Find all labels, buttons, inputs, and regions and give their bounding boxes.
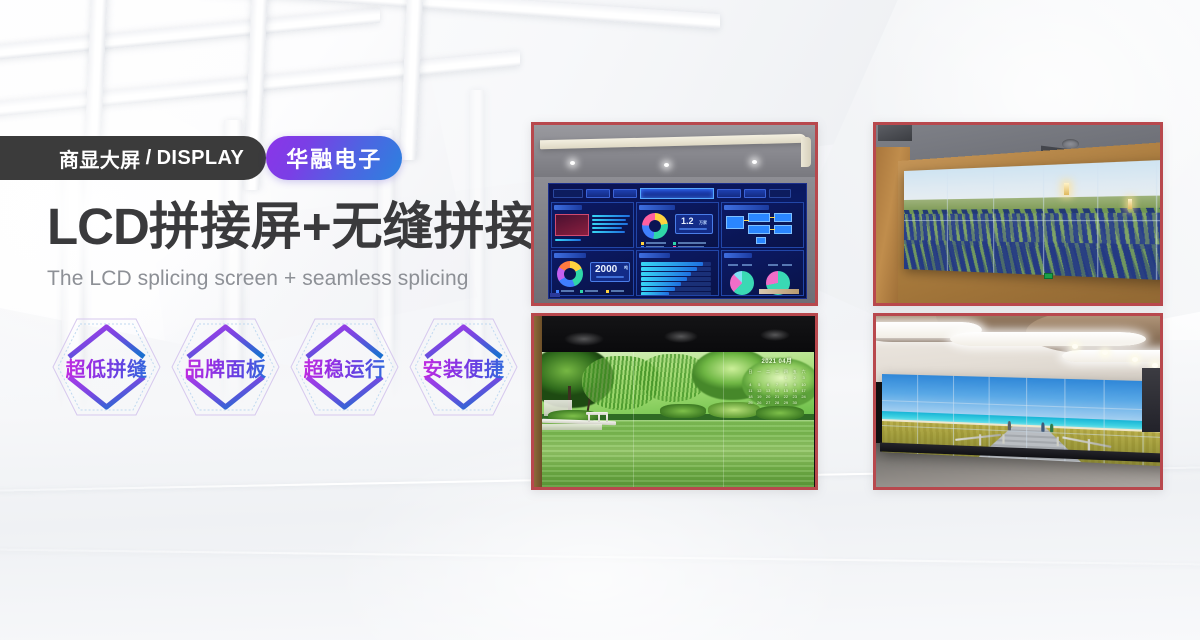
calendar-title: 2021 04月 [746,358,808,367]
photo-garden-lake-video-wall: 2021 04月 日 一 二 三 四 五 六 12345678910111213… [531,313,818,490]
video-wall-screen: 2021 04月 日 一 二 三 四 五 六 12345678910111213… [542,352,814,487]
ceiling-beam [0,51,520,120]
photo-solar-farm-video-wall [873,122,1163,306]
calendar-day: 27 [764,400,773,406]
dashboard-card: 1.2 万家 [636,202,719,248]
ceiling-beam [200,0,720,29]
category-pill: 商显大屏 / DISPLAY [0,136,266,180]
brand-badge: 商显大屏 / DISPLAY 华融电子 [47,136,402,180]
page-title-prefix: LCD [47,198,149,255]
feature-badge: 品牌面板 [166,313,285,421]
category-label-en: DISPLAY [157,147,245,170]
page-title: LCD拼接屏+无缝拼接 [47,200,547,254]
calendar-overlay: 2021 04月 日 一 二 三 四 五 六 12345678910111213… [746,358,808,422]
dashboard-card [636,250,719,296]
photo-beach-boardwalk-video-wall [873,313,1163,490]
calendar-day: 25 [746,400,755,406]
dashboard-card: 2000 吨 [551,250,634,296]
floor-line [0,548,1200,567]
calendar-day: 30 [790,400,799,406]
dashboard-screen: 1.2 万家 [548,183,807,299]
category-label-cn: 商显大屏 [59,144,141,173]
feature-label: 品牌面板 [185,353,267,382]
page-title-cn: 拼接屏+无缝拼接 [149,198,536,255]
feature-label: 安装便捷 [423,353,505,382]
photo-control-room-dashboard: 1.2 万家 [531,122,818,306]
calendar-day: 28 [773,400,782,406]
feature-list: 超低拼缝 品牌面板 超稳运行 [47,313,547,421]
feature-label: 超稳运行 [304,353,386,382]
feature-badge: 安装便捷 [404,313,523,421]
feature-badge: 超稳运行 [285,313,404,421]
feature-badge: 超低拼缝 [47,313,166,421]
feature-label: 超低拼缝 [66,353,148,382]
calendar-day [799,400,808,406]
calendar-day: 26 [755,400,764,406]
ceiling-beam [0,8,380,63]
calendar-days: 1234567891011121314151617181920212223242… [746,375,808,406]
brand-pill: 华融电子 [266,136,402,180]
dashboard-card [551,202,634,248]
page-subtitle: The LCD splicing screen + seamless splic… [47,267,547,291]
headline-column: 商显大屏 / DISPLAY 华融电子 LCD拼接屏+无缝拼接 The LCD … [47,136,547,421]
promo-banner: 商显大屏 / DISPLAY 华融电子 LCD拼接屏+无缝拼接 The LCD … [0,0,1200,640]
dashboard-card [721,202,804,248]
video-wall-screen [904,158,1160,283]
calendar-day: 29 [781,400,790,406]
category-separator: / [141,147,157,170]
